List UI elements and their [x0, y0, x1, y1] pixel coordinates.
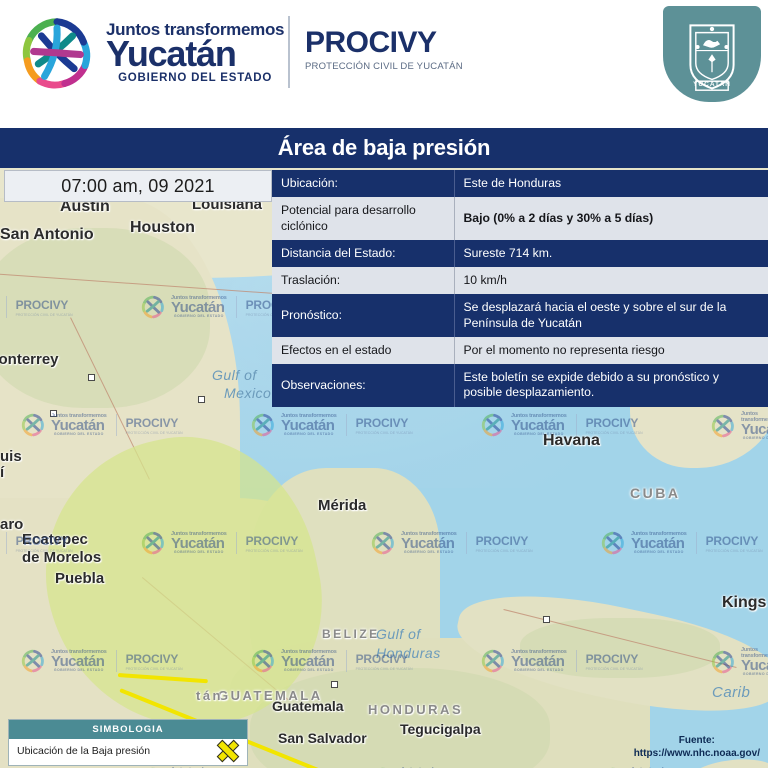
bulletin-info-table: Ubicación:Este de HondurasPotencial para… [272, 170, 768, 407]
map-region-label: HONDURAS [368, 702, 463, 717]
city-dot [331, 681, 338, 688]
source-url: https://www.nhc.noaa.gov/ [634, 748, 760, 761]
source-credit: Fuente: https://www.nhc.noaa.gov/ [634, 735, 760, 760]
yucatan-coat-of-arms-icon: YUCATAN [663, 6, 761, 102]
map-region-label: GUATEMALA [218, 688, 323, 703]
map-city-label: Havana [543, 432, 600, 450]
logo-line-3: GOBIERNO DEL ESTADO [106, 73, 284, 85]
map-city-label: Houston [130, 219, 195, 237]
map-water-label: Carib [712, 684, 750, 701]
legend-item: Ubicación de la Baja presión [9, 739, 247, 765]
source-label: Fuente: [634, 735, 760, 748]
map-city-label: Kings [722, 594, 766, 612]
map-city-label: Tegucigalpa [400, 721, 481, 737]
map-region-label: BELIZE [322, 627, 380, 641]
bulletin-page: Juntos transformemos Yucatán GOBIERNO DE… [0, 0, 768, 768]
map-city-label: San Antonio [0, 226, 94, 244]
table-cell-value: Sureste 714 km. [454, 240, 768, 267]
table-cell-value: Por el momento no representa riesgo [454, 337, 768, 364]
city-dot [50, 410, 57, 417]
map-terrain-tint-south [250, 668, 550, 768]
legend-header: SIMBOLOGIA [9, 720, 247, 739]
map-city-label: Puebla [55, 570, 104, 587]
map-region-label: tán [196, 688, 223, 703]
timestamp-box: 07:00 am, 09 2021 [4, 170, 272, 202]
table-cell-key: Distancia del Estado: [272, 240, 454, 267]
map-terrain-tint-north [0, 228, 210, 408]
table-cell-key: Ubicación: [272, 170, 454, 197]
shield-label: YUCATAN [687, 81, 737, 88]
yellow-x-marker-icon [217, 740, 239, 762]
table-row: Pronóstico:Se desplazará hacia el oeste … [272, 294, 768, 337]
table-row: Ubicación:Este de Honduras [272, 170, 768, 197]
page-title: Área de baja presión [278, 135, 490, 161]
table-cell-key: Efectos en el estado [272, 337, 454, 364]
map-city-label: de Morelos [22, 549, 101, 566]
procivy-title: PROCIVY [305, 28, 463, 58]
table-cell-key: Potencial para desarrollo ciclónico [272, 197, 454, 240]
map-water-label: Honduras [376, 645, 441, 661]
map-terrain-tint-cuba [520, 618, 720, 678]
table-cell-value: Bajo (0% a 2 días y 30% a 5 días) [454, 197, 768, 240]
map-city-label: Mérida [318, 497, 366, 514]
table-cell-value: Este boletín se expide debido a su pronó… [454, 364, 768, 407]
yucatan-knot-logo-icon [18, 14, 96, 92]
table-cell-key: Traslación: [272, 267, 454, 294]
timestamp-value: 07:00 am, 09 2021 [61, 176, 215, 197]
map-region-label: CUBA [630, 485, 680, 501]
map-city-label: Ecatepec [22, 531, 88, 548]
map-legend: SIMBOLOGIA Ubicación de la Baja presión [8, 719, 248, 766]
map-water-label: Mexico [224, 385, 271, 401]
map-water-label: Gulf of [376, 626, 421, 642]
procivy-brand: PROCIVY PROTECCIÓN CIVIL DE YUCATÁN [305, 28, 463, 72]
map-water-label: Gulf of [212, 367, 257, 383]
table-row: Efectos en el estadoPor el momento no re… [272, 337, 768, 364]
page-header: Juntos transformemos Yucatán GOBIERNO DE… [0, 0, 768, 118]
table-cell-key: Pronóstico: [272, 294, 454, 337]
government-logo: Juntos transformemos Yucatán GOBIERNO DE… [18, 14, 284, 92]
map-city-label: aro [0, 516, 23, 533]
procivy-subtitle: PROTECCIÓN CIVIL DE YUCATÁN [305, 61, 463, 72]
table-cell-value: Este de Honduras [454, 170, 768, 197]
map-city-label: í [0, 464, 4, 481]
city-dot [198, 396, 205, 403]
legend-item-label: Ubicación de la Baja presión [17, 745, 150, 757]
map-city-label: San Salvador [278, 730, 367, 746]
header-divider [288, 16, 290, 88]
map-city-label: Monterrey [0, 351, 59, 368]
table-row: Traslación:10 km/h [272, 267, 768, 294]
table-cell-value: Se desplazará hacia el oeste y sobre el … [454, 294, 768, 337]
logo-line-2: Yucatán [106, 36, 284, 72]
bulletin-title-bar: Área de baja presión [0, 128, 768, 168]
map-city-label: uis [0, 448, 22, 465]
table-cell-value: 10 km/h [454, 267, 768, 294]
table-row: Distancia del Estado:Sureste 714 km. [272, 240, 768, 267]
table-cell-key: Observaciones: [272, 364, 454, 407]
city-dot [543, 616, 550, 623]
table-row: Observaciones:Este boletín se expide deb… [272, 364, 768, 407]
table-row: Potencial para desarrollo ciclónicoBajo … [272, 197, 768, 240]
city-dot [88, 374, 95, 381]
